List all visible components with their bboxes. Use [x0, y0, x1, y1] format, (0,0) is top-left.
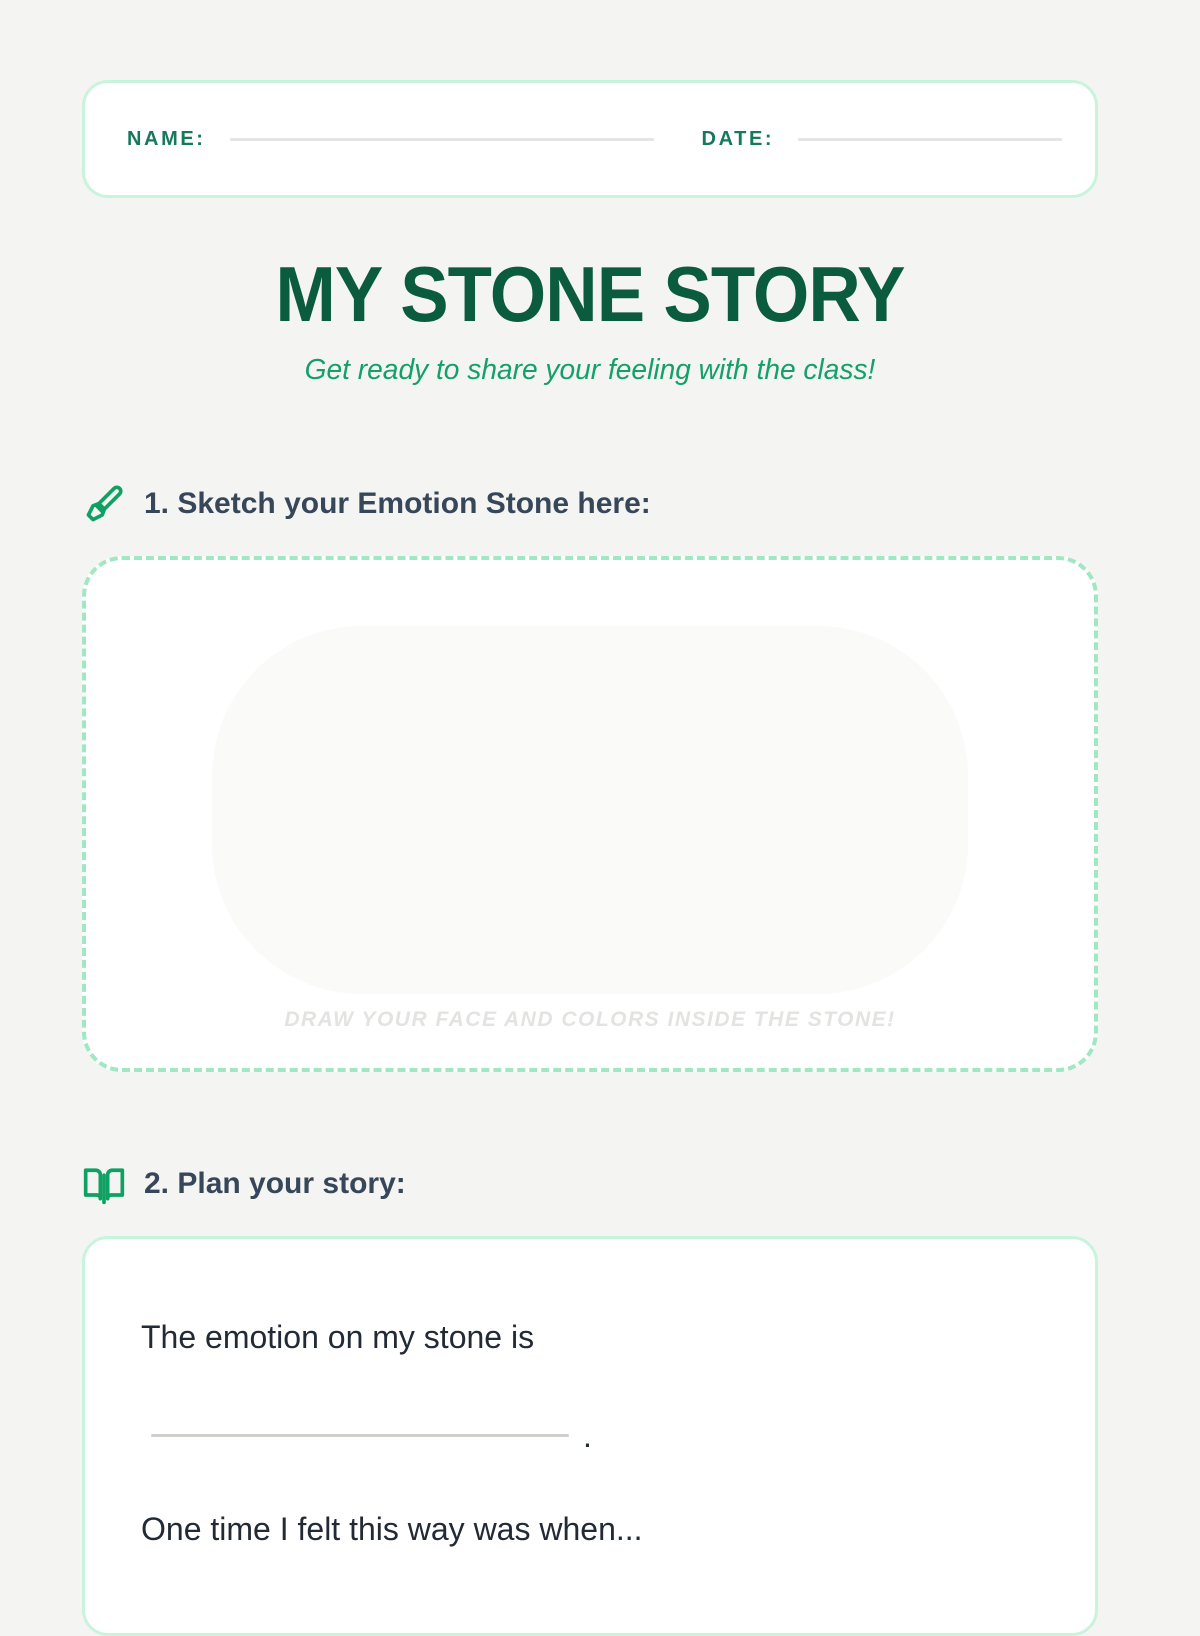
emotion-period: . [583, 1425, 592, 1447]
section-heading-sketch: 1. Sketch your Emotion Stone here: [82, 482, 651, 526]
section-heading-plan: 2. Plan your story: [82, 1162, 406, 1206]
student-info-card: NAME: DATE: [82, 80, 1098, 198]
name-field-group: NAME: [127, 128, 654, 151]
page-subtitle: Get ready to share your feeling with the… [18, 352, 1163, 388]
name-label: NAME: [127, 128, 206, 151]
section-heading-plan-label: 2. Plan your story: [144, 1167, 406, 1201]
sketch-hint-text: DRAW YOUR FACE AND COLORS INSIDE THE STO… [86, 1008, 1094, 1032]
stone-outline-ghost [212, 626, 968, 994]
story-fill-row: . [141, 1425, 1039, 1447]
date-field-group: DATE: [702, 128, 1063, 151]
title-block: MY STONE STORY Get ready to share your f… [0, 252, 1180, 388]
story-plan-card: The emotion on my stone is . One time I … [82, 1236, 1098, 1636]
story-prompt-emotion: The emotion on my stone is [141, 1317, 1039, 1357]
page-title: MY STONE STORY [41, 252, 1138, 336]
section-heading-sketch-label: 1. Sketch your Emotion Stone here: [144, 487, 651, 521]
date-input-line[interactable] [798, 138, 1062, 141]
emotion-blank-input[interactable] [151, 1434, 569, 1437]
name-input-line[interactable] [230, 138, 654, 141]
sketch-area[interactable]: DRAW YOUR FACE AND COLORS INSIDE THE STO… [82, 556, 1098, 1072]
worksheet-page: NAME: DATE: MY STONE STORY Get ready to … [0, 0, 1200, 1600]
paintbrush-icon [82, 482, 126, 526]
date-label: DATE: [702, 128, 775, 151]
story-prompt-memory: One time I felt this way was when... [141, 1509, 1039, 1549]
open-book-icon [82, 1162, 126, 1206]
